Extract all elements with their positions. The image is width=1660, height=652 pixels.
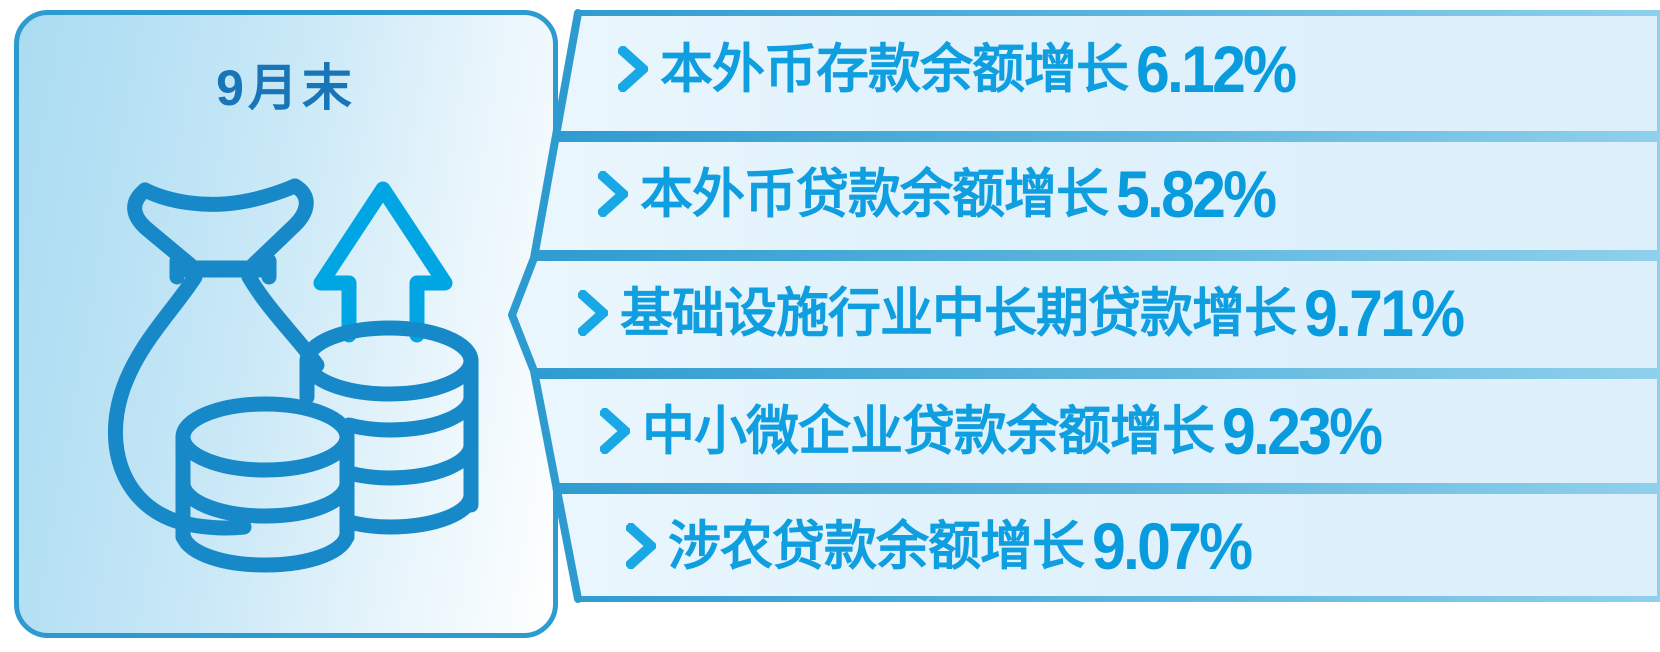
money-bag-icon bbox=[115, 186, 317, 528]
infographic-root: 9月末 bbox=[0, 0, 1660, 652]
stats-row-shape-3 bbox=[512, 258, 1660, 371]
stats-row-shape-4 bbox=[534, 376, 1660, 486]
stats-row-shape-2 bbox=[534, 139, 1660, 253]
stats-chevron-panel bbox=[500, 0, 1660, 652]
finance-illustration bbox=[89, 165, 499, 575]
up-arrow-icon bbox=[321, 189, 445, 335]
stats-row-shape-1 bbox=[556, 13, 1660, 134]
page-title: 9月末 bbox=[19, 63, 553, 113]
left-summary-panel: 9月末 bbox=[14, 10, 558, 638]
stats-row-shape-5 bbox=[556, 491, 1660, 599]
